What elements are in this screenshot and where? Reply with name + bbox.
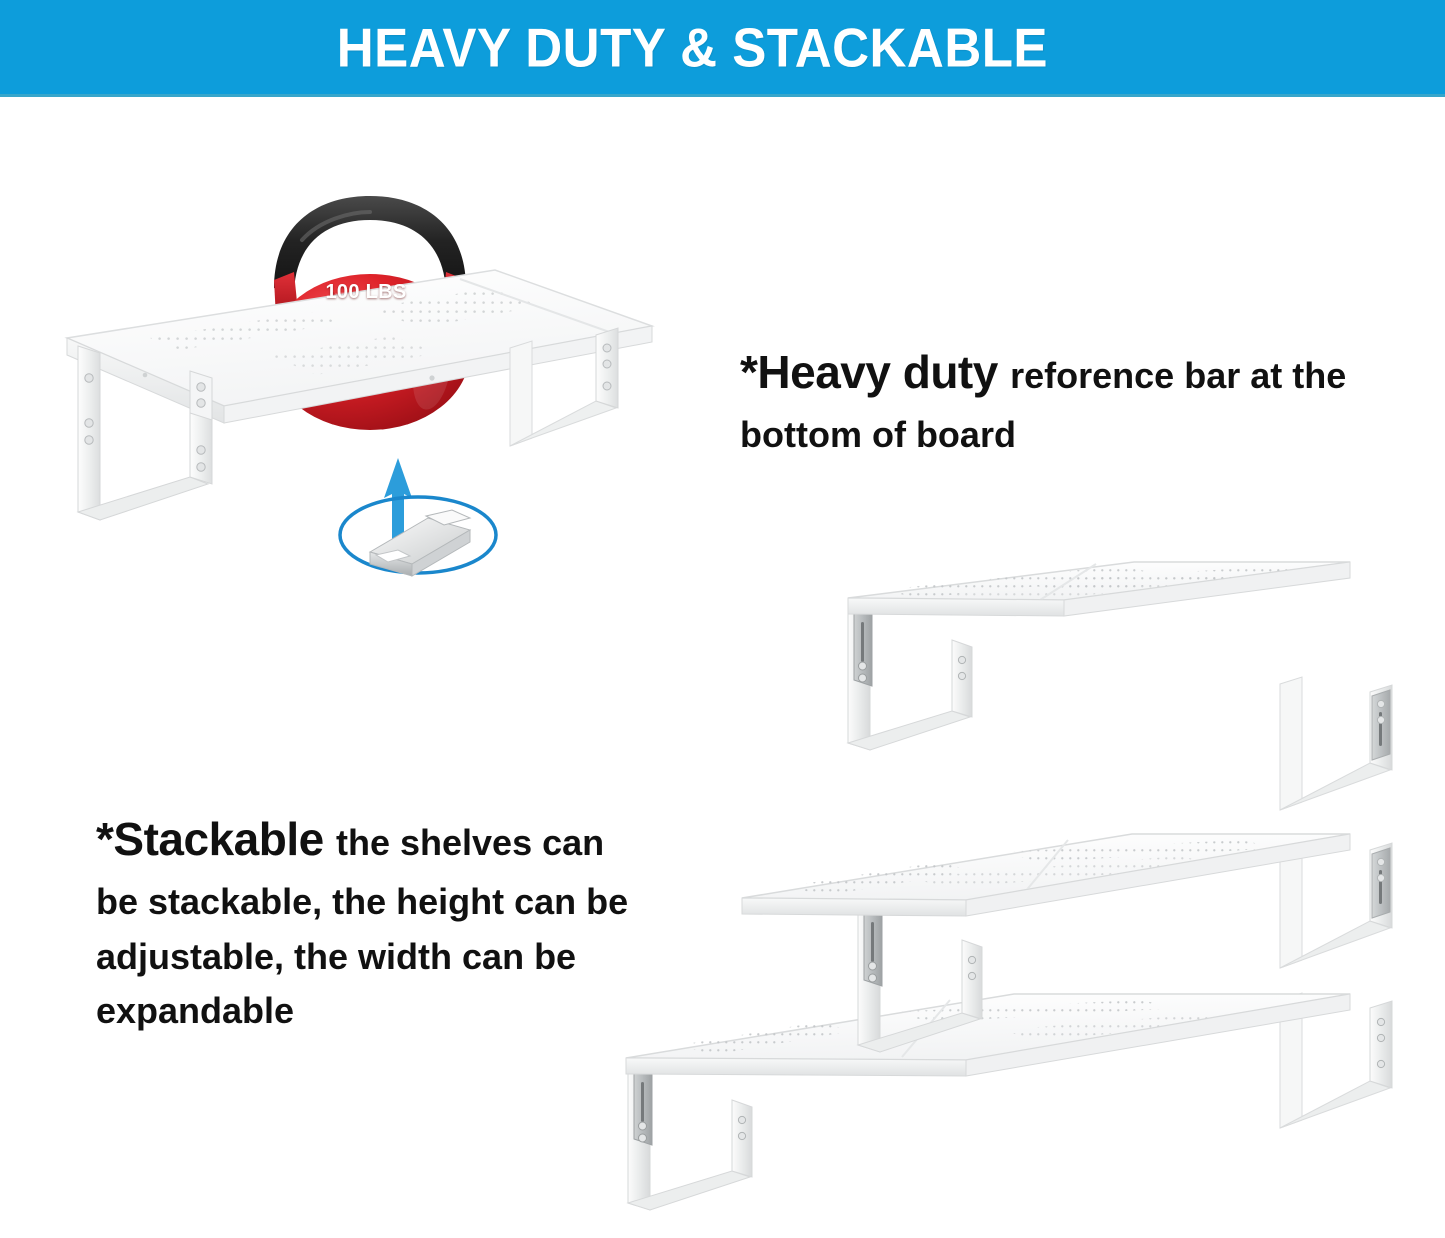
shelf-tier-top [848, 562, 1392, 810]
page-title: HEAVY DUTY & STACKABLE [0, 20, 1445, 75]
heavy-duty-illustration [40, 120, 670, 590]
shelf-tier-bottom [626, 993, 1392, 1210]
callout-arrow [384, 458, 412, 550]
shelf-tier-middle [742, 834, 1392, 1052]
header-banner: HEAVY DUTY & STACKABLE [0, 0, 1445, 97]
feature-heavy-duty: *Heavy duty reforence bar at the bottom … [740, 338, 1400, 463]
kettlebell-weight-label: 100 LBS [306, 281, 426, 304]
feature-stackable: *Stackable the shelves can be stackable,… [96, 805, 641, 1039]
feature-heavy-duty-lead: *Heavy duty [740, 346, 1010, 398]
feature-stackable-lead: *Stackable [96, 813, 336, 865]
stackable-shelves-illustration [620, 560, 1420, 1230]
shelf-edge [67, 326, 652, 423]
shelf-leg-front [78, 346, 212, 520]
callout-detail [340, 497, 496, 576]
page-title-text: HEAVY DUTY & STACKABLE [337, 20, 1048, 75]
shelf-leg-rear [510, 328, 618, 446]
kettlebell [270, 196, 470, 430]
